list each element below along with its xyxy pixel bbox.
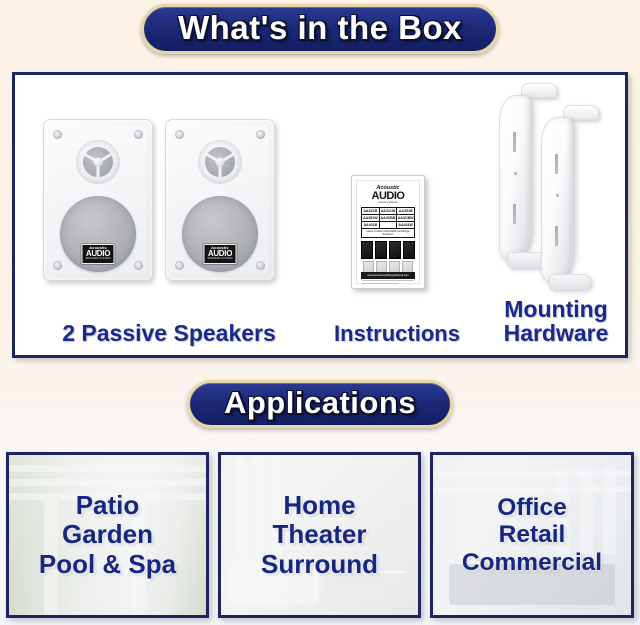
application-cards: Patio Garden Pool & Spa Home Theater Sur… — [0, 448, 640, 625]
box-contents-panel: Acoustic AUDIO SPEAKER SYSTEM — [12, 72, 628, 358]
application-card-patio-label: Patio Garden Pool & Spa — [9, 455, 206, 615]
banner-applications: Applications — [187, 380, 453, 428]
model-cell — [380, 222, 398, 228]
screw-icon — [256, 130, 265, 139]
screw-icon — [53, 261, 62, 270]
box-banner-row: What's in the Box — [0, 0, 640, 54]
model-cell: AA3CBW — [397, 215, 414, 221]
table-row: AA401B AA401W — [362, 222, 414, 229]
tweeter-driver — [76, 140, 120, 184]
booklet-brand-sub: Owner's Manual — [357, 201, 419, 204]
box-contents-inner: Acoustic AUDIO SPEAKER SYSTEM — [15, 75, 625, 355]
bracket-slot — [513, 204, 516, 224]
application-card-home-theater-label: Home Theater Surround — [221, 455, 418, 615]
booklet-brand-large: AUDIO — [357, 191, 419, 201]
speaker-brand-badge: Acoustic AUDIO SPEAKER SYSTEM — [203, 244, 236, 264]
model-cell: AA401W — [397, 222, 414, 228]
applications-banner-row: Applications — [0, 372, 640, 428]
screw-icon — [134, 130, 143, 139]
screw-icon — [175, 130, 184, 139]
instructions-booklet-image: Acoustic AUDIO Owner's Manual AA321B AA3… — [351, 175, 425, 289]
banner-applications-label: Applications — [224, 387, 416, 418]
table-row: AA321B AA321W AA351B — [362, 208, 414, 215]
booklet-photo — [375, 241, 387, 259]
speaker-right: Acoustic AUDIO SPEAKER SYSTEM — [165, 119, 275, 281]
bracket-hole — [514, 172, 517, 175]
booklet-photo — [361, 241, 373, 259]
model-cell: AA321W — [380, 208, 398, 214]
application-card-office: Office Retail Commercial — [430, 452, 634, 618]
tweeter-hub — [216, 158, 225, 167]
screw-icon — [256, 261, 265, 270]
bracket-slot — [513, 132, 516, 152]
tweeter-hub — [94, 158, 103, 167]
badge-brand-sub: SPEAKER SYSTEM — [85, 258, 110, 261]
booklet-photo — [389, 241, 401, 259]
application-card-patio: Patio Garden Pool & Spa — [6, 452, 209, 618]
caption-mounting-hardware: Mounting Hardware — [483, 298, 629, 345]
model-cell: AA3CBB — [380, 215, 398, 221]
tweeter-driver — [198, 140, 242, 184]
bracket-hole — [556, 194, 559, 197]
bracket-front — [541, 105, 587, 280]
bracket-rear — [499, 83, 545, 258]
booklet-photo — [403, 241, 415, 259]
speaker-brand-badge: Acoustic AUDIO SPEAKER SYSTEM — [81, 244, 114, 264]
booklet-model-table: AA321B AA321W AA351B AA351W AA3CBB AA3CB… — [361, 207, 415, 238]
bracket-body — [541, 117, 573, 282]
booklet-footer-text: www.acousticaudiobygoldwood.com — [361, 272, 415, 279]
model-cell: AA351B — [397, 208, 414, 214]
mounting-brackets-image — [487, 83, 607, 288]
caption-passive-speakers: 2 Passive Speakers — [29, 322, 309, 345]
screw-icon — [53, 130, 62, 139]
booklet-product-photos-dark — [361, 241, 415, 259]
model-cell: AA401B — [362, 222, 380, 228]
booklet-footer-bar: www.acousticaudiobygoldwood.com — [361, 272, 415, 279]
booklet-table-subtitle: Indoor Outdoor Mountable Full Range Spea… — [362, 229, 414, 237]
badge-brand-sub: SPEAKER SYSTEM — [207, 258, 232, 261]
caption-instructions: Instructions — [311, 323, 483, 345]
application-card-home-theater: Home Theater Surround — [218, 452, 421, 618]
application-card-office-label: Office Retail Commercial — [433, 455, 631, 615]
banner-whats-in-the-box-label: What's in the Box — [178, 11, 462, 44]
bracket-slot — [555, 154, 558, 174]
bracket-body — [499, 95, 531, 260]
booklet-cover: Acoustic AUDIO Owner's Manual AA321B AA3… — [356, 180, 420, 284]
banner-whats-in-the-box: What's in the Box — [141, 4, 499, 54]
screw-icon — [134, 261, 143, 270]
speaker-pair-image: Acoustic AUDIO SPEAKER SYSTEM — [43, 119, 283, 289]
bracket-slot — [555, 226, 558, 246]
contents-captions: 2 Passive Speakers Instructions Mounting… — [15, 281, 625, 345]
screw-icon — [175, 261, 184, 270]
speaker-left: Acoustic AUDIO SPEAKER SYSTEM — [43, 119, 153, 281]
model-cell: AA351W — [362, 215, 380, 221]
model-cell: AA321B — [362, 208, 380, 214]
table-row: AA351W AA3CBB AA3CBW — [362, 215, 414, 222]
booklet-brand: Acoustic AUDIO Owner's Manual — [357, 181, 419, 204]
